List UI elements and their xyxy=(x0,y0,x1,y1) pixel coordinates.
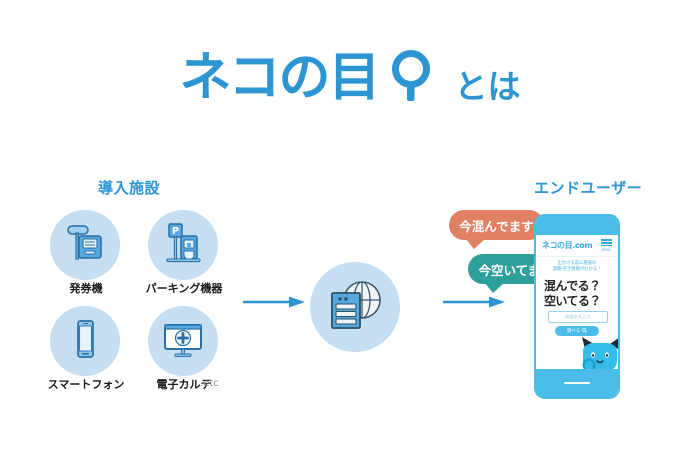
search-input[interactable]: 施設名を入力 xyxy=(548,311,608,323)
cat-mascot-icon xyxy=(580,335,620,373)
home-indicator xyxy=(564,382,590,384)
phone-bottom-bar xyxy=(536,369,618,397)
facility-item-smartphone[interactable]: スマートフォン xyxy=(38,306,134,402)
speech-bubble-busy-label: 今混んでます xyxy=(459,216,533,235)
speech-bubble-tail xyxy=(465,238,486,249)
etc-note: .etc xyxy=(200,378,219,389)
left-section-heading: 導入施設 xyxy=(98,177,160,198)
smartphone-mockup: ネコの目.com MENU 出かける前に施設の 混雑・空き情報がわかる！ 混んで… xyxy=(534,214,620,399)
magnifier-eye-icon xyxy=(390,50,432,107)
speech-bubble-busy: 今混んでます xyxy=(449,210,544,240)
hamburger-menu-icon[interactable]: MENU xyxy=(601,239,612,251)
right-section-heading: エンドユーザー xyxy=(534,177,642,198)
menu-bar xyxy=(601,242,612,244)
facility-item-ticket-machine[interactable]: 発券機 xyxy=(38,210,134,306)
app-headline-line-2: 空いてる？ xyxy=(544,292,620,309)
icon-circle-background xyxy=(148,306,218,376)
phone-screen: ネコの目.com MENU 出かける前に施設の 混雑・空き情報がわかる！ 混んで… xyxy=(536,235,618,373)
parking-meter-icon: P xyxy=(159,219,207,272)
svg-text:P: P xyxy=(172,226,179,237)
arrow-right-icon-facilities-to-server xyxy=(243,295,305,307)
ticket-machine-icon xyxy=(61,219,109,272)
facility-label: 電子カルテ xyxy=(128,376,240,392)
menu-bar xyxy=(601,239,612,241)
facility-label: 発券機 xyxy=(30,280,142,296)
magnifier-icon xyxy=(582,328,587,335)
brand-logo-text: ネコの目 xyxy=(180,52,379,104)
facility-item-parking-meter[interactable]: P パーキング機器 xyxy=(136,210,232,306)
cloud-server-node xyxy=(310,262,400,352)
infographic-canvas: ネコの目 とは 導入施設 xyxy=(0,0,700,467)
icon-circle-background xyxy=(50,306,120,376)
title-suffix: とは xyxy=(454,60,520,108)
page-title: ネコの目 とは xyxy=(0,42,700,114)
icon-circle-background xyxy=(50,210,120,280)
arrow-right-icon-server-to-enduser xyxy=(443,295,505,307)
facility-label: スマートフォン xyxy=(30,376,142,392)
search-button-label: 調べる xyxy=(567,328,580,334)
speech-bubble-tail xyxy=(484,282,505,293)
icon-circle-background: P xyxy=(148,210,218,280)
facility-icon-grid: 発券機 P パーキング機器 xyxy=(38,210,238,400)
menu-label: MENU xyxy=(602,248,611,252)
cloud-server-globe-icon xyxy=(324,276,386,339)
app-header-bar: ネコの目.com MENU xyxy=(536,235,618,257)
electronic-medical-record-icon xyxy=(159,315,207,368)
phone-top-bar xyxy=(536,216,618,235)
app-logo: ネコの目.com xyxy=(542,240,592,251)
app-tagline: 出かける前に施設の 混雑・空き情報がわかる！ xyxy=(536,261,618,274)
facility-label: パーキング機器 xyxy=(128,280,240,296)
smartphone-icon xyxy=(61,315,109,368)
menu-bar xyxy=(601,245,612,247)
app-tagline-line-2: 混雑・空き情報がわかる！ xyxy=(536,267,618,273)
